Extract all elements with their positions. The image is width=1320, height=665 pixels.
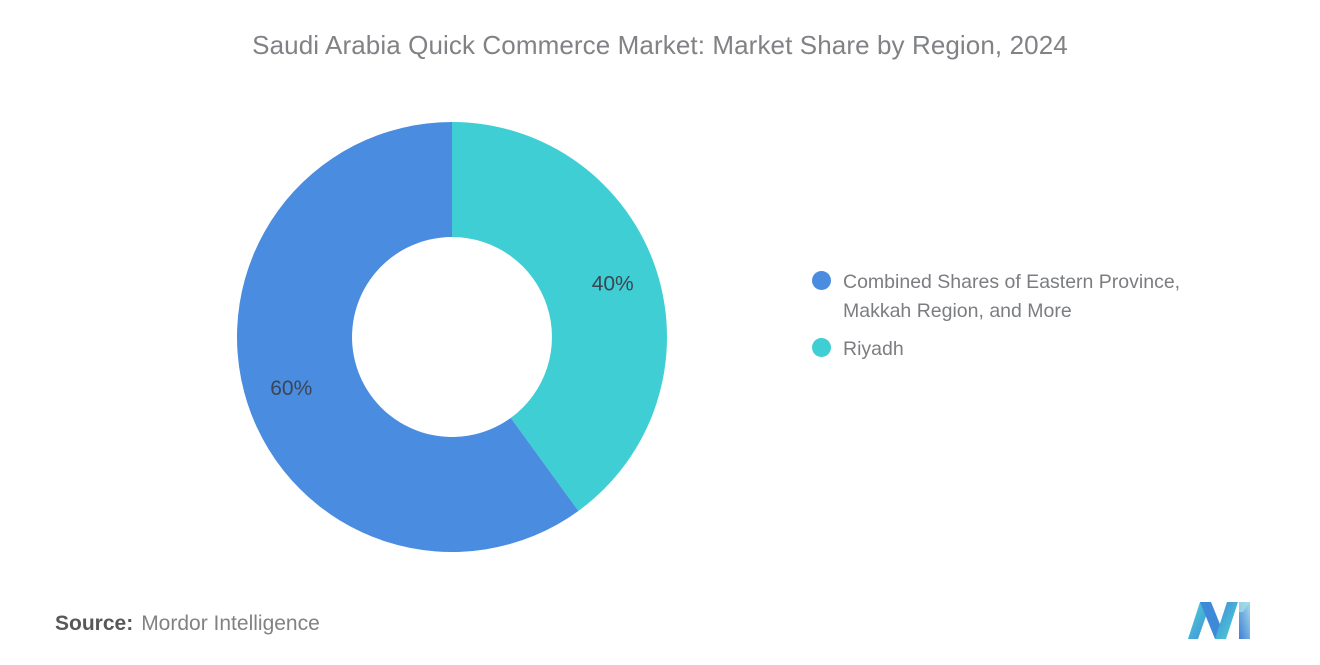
donut-chart-svg: 40%60% <box>237 122 667 552</box>
source-value: Mordor Intelligence <box>141 612 320 636</box>
source-label: Source: <box>55 612 133 636</box>
donut-slice-label: 60% <box>270 377 312 400</box>
source-line: Source: Mordor Intelligence <box>55 612 320 636</box>
legend-item-label: Combined Shares of Eastern Province, Mak… <box>843 268 1243 326</box>
circle-swatch-icon <box>812 338 831 357</box>
donut-chart: 40%60% <box>237 122 667 552</box>
donut-slice-label: 40% <box>592 272 634 295</box>
logo-svg <box>1186 598 1254 640</box>
legend-item-riyadh[interactable]: Riyadh <box>812 335 1252 364</box>
chart-legend: Combined Shares of Eastern Province, Mak… <box>812 268 1252 373</box>
legend-item-label: Riyadh <box>843 335 904 364</box>
donut-slice-group <box>237 122 667 552</box>
page-title: Saudi Arabia Quick Commerce Market: Mark… <box>0 30 1320 61</box>
circle-swatch-icon <box>812 271 831 290</box>
mordor-intelligence-logo-icon <box>1186 598 1254 640</box>
legend-item-combined-shares[interactable]: Combined Shares of Eastern Province, Mak… <box>812 268 1252 326</box>
